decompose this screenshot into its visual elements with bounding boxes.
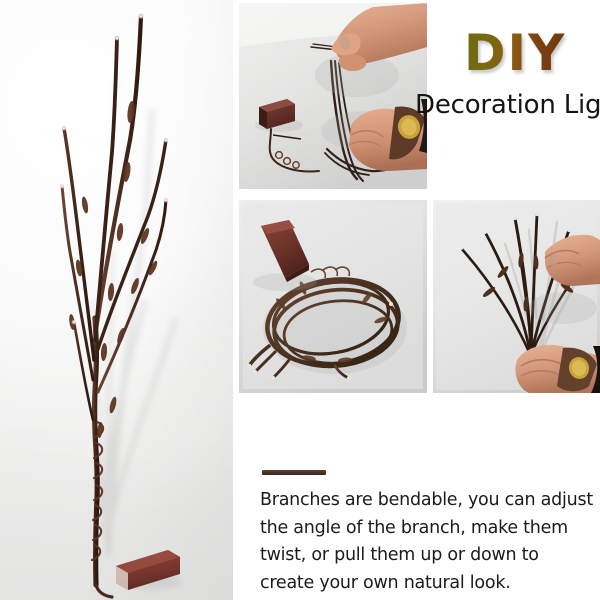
hands-bending-illustration (239, 3, 427, 189)
hands-bending-branches-photo (239, 3, 427, 189)
coiled-branch-light-photo (239, 200, 427, 393)
coiled-light-illustration (239, 200, 427, 393)
headline-diy: DIY (464, 28, 566, 78)
hero-product-photo (0, 0, 233, 600)
hero-branch-illustration (0, 0, 233, 600)
hands-arranging-illustration (433, 200, 600, 393)
section-rule-divider (262, 470, 326, 475)
headline-subtitle: Decoration Light (415, 92, 600, 118)
feature-description: Branches are bendable, you can adjust th… (260, 487, 598, 598)
feature-description-text: Branches are bendable, you can adjust th… (260, 487, 598, 598)
hands-arranging-branches-photo (433, 200, 600, 393)
product-infographic: DIY Decoration Light Branches are bendab… (0, 0, 600, 600)
